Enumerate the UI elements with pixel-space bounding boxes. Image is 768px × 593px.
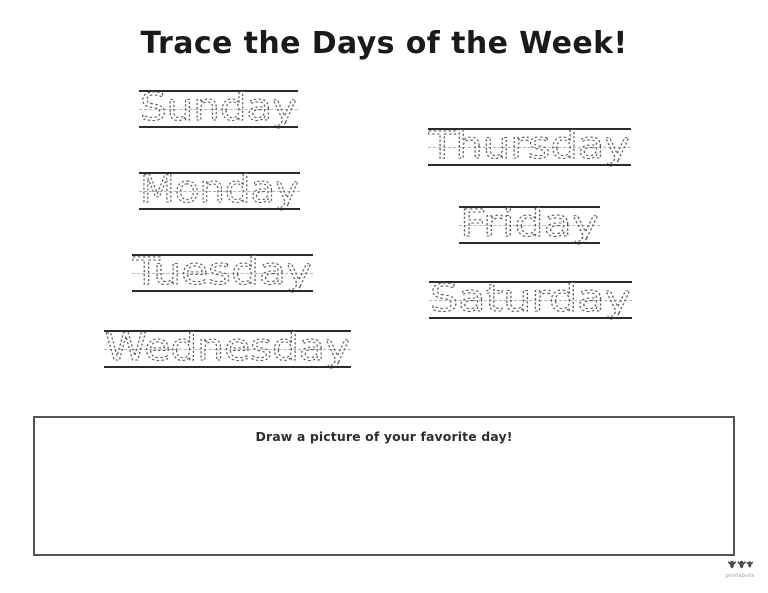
trace-row-monday[interactable]: Monday	[139, 172, 300, 210]
rule-baseline	[428, 164, 631, 166]
trace-word-outline: Thursday	[428, 127, 631, 166]
trace-word-text: Friday	[460, 202, 599, 245]
trace-word-text: Sunday	[140, 86, 297, 129]
rule-baseline	[459, 242, 600, 244]
worksheet-page: Trace the Days of the Week! SundayMonday…	[0, 0, 768, 593]
trace-word-outline: Sunday	[139, 89, 298, 128]
trace-word-outline: Wednesday	[104, 329, 351, 368]
trace-word-text: Wednesday	[105, 326, 350, 369]
trace-word-outline: Monday	[139, 171, 300, 210]
trace-word-text: Thursday	[428, 124, 630, 167]
trace-word-text: Tuesday	[132, 250, 312, 293]
trace-word-text: Monday	[140, 168, 299, 211]
trace-word-outline: Saturday	[429, 280, 632, 319]
rule-baseline	[104, 366, 351, 368]
trace-row-wednesday[interactable]: Wednesday	[104, 330, 351, 368]
page-title: Trace the Days of the Week!	[0, 26, 768, 61]
brand-logo-text: printabulls	[718, 573, 762, 579]
trace-word-outline: Tuesday	[132, 253, 313, 292]
trace-row-thursday[interactable]: Thursday	[428, 128, 631, 166]
trace-row-saturday[interactable]: Saturday	[429, 281, 632, 319]
rule-baseline	[132, 290, 313, 292]
drawing-area-prompt: Draw a picture of your favorite day!	[35, 429, 733, 444]
trace-word-text: Saturday	[430, 277, 631, 320]
rule-baseline	[139, 126, 298, 128]
brand-logo: printabulls	[718, 560, 762, 586]
rule-baseline	[429, 317, 632, 319]
trace-row-friday[interactable]: Friday	[459, 206, 600, 244]
double-bull-head-icon	[727, 560, 753, 572]
trace-word-outline: Friday	[459, 205, 600, 244]
rule-baseline	[139, 208, 300, 210]
drawing-area-box[interactable]: Draw a picture of your favorite day!	[33, 416, 735, 556]
trace-row-tuesday[interactable]: Tuesday	[132, 254, 313, 292]
trace-row-sunday[interactable]: Sunday	[139, 90, 298, 128]
